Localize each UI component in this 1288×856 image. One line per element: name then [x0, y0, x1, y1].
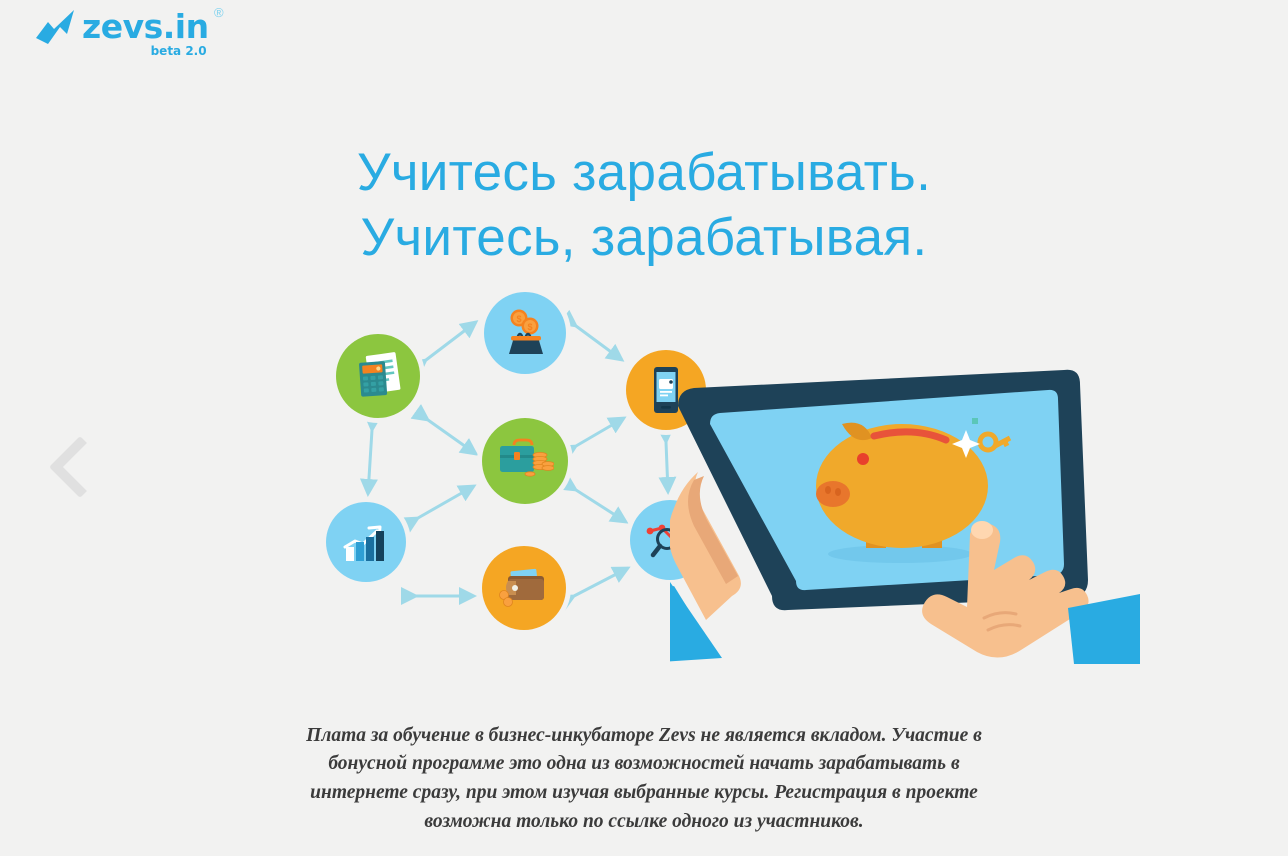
- node-briefcase-coins[interactable]: [482, 418, 568, 504]
- coin-purse-icon: $ $: [498, 306, 552, 360]
- briefcase-coins-icon: [496, 435, 554, 487]
- page-title: Учитесь зарабатывать. Учитесь, зарабатыв…: [0, 140, 1288, 271]
- hero-illustration: $ $: [0, 278, 1288, 678]
- node-growth-bar-chart[interactable]: [326, 502, 406, 582]
- node-coin-purse[interactable]: $ $: [484, 292, 566, 374]
- headline-line-2: Учитесь, зарабатывая.: [0, 205, 1288, 271]
- headline-line-1: Учитесь зарабатывать.: [0, 140, 1288, 206]
- svg-text:$: $: [527, 322, 532, 332]
- icon-network-diagram: $ $: [318, 278, 728, 638]
- growth-bar-chart-icon: [341, 519, 391, 565]
- wallet-card-icon: [497, 565, 551, 611]
- hero-description: Плата за обучение в бизнес-инкубаторе Ze…: [304, 722, 984, 837]
- hands-holding-tablet-with-piggy-bank-icon: [670, 358, 1140, 678]
- tablet-illustration: [670, 358, 1140, 678]
- node-wallet-card[interactable]: [482, 546, 566, 630]
- hero-slide: Учитесь зарабатывать. Учитесь, зарабатыв…: [0, 0, 1288, 856]
- node-calculator-documents[interactable]: [336, 334, 420, 418]
- svg-text:$: $: [516, 314, 521, 324]
- calculator-documents-icon: [350, 348, 406, 404]
